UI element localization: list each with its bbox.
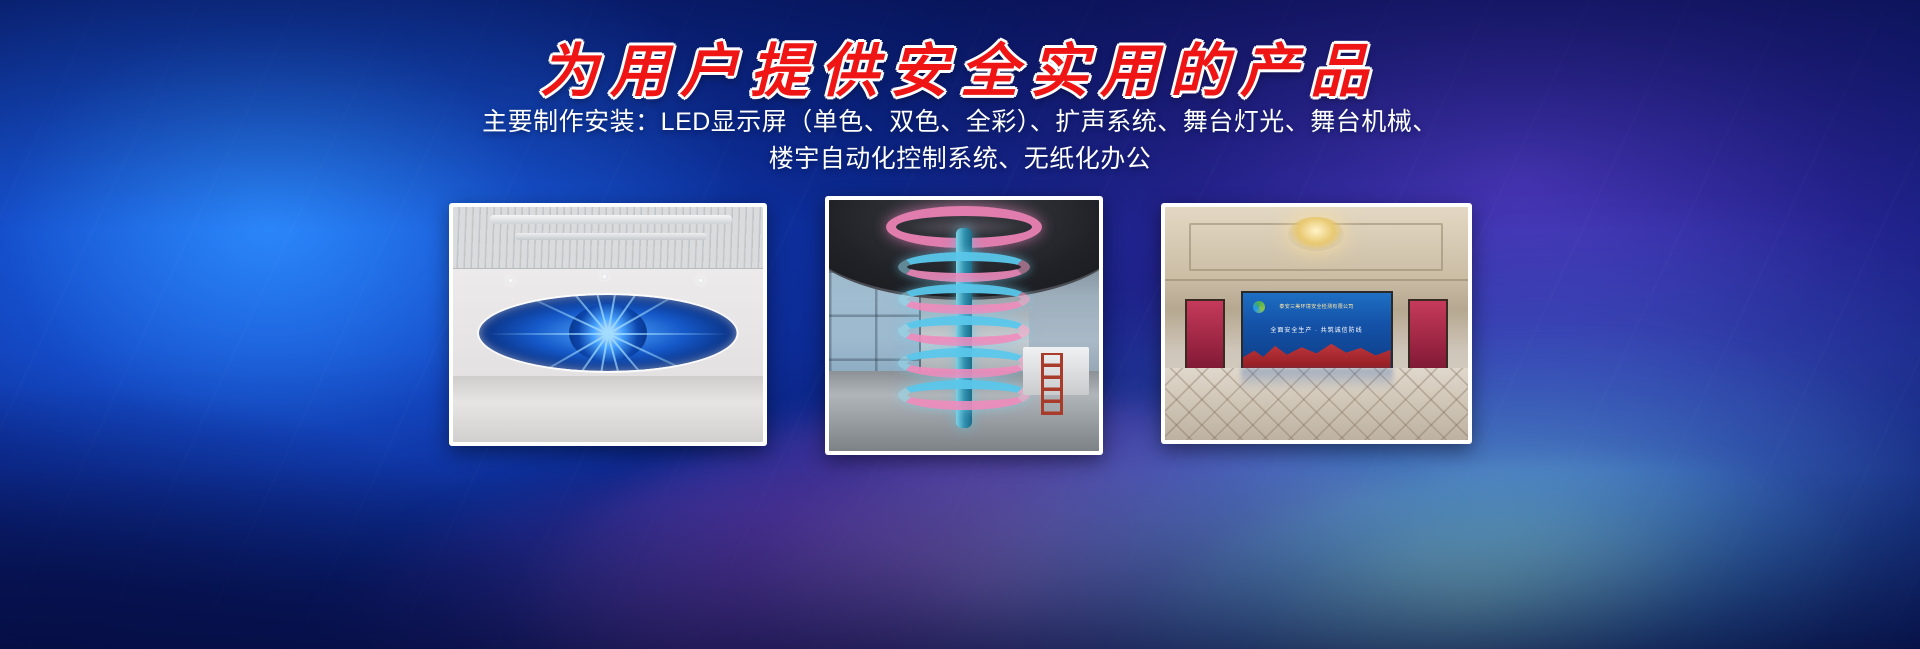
eye-screen-white-border xyxy=(477,293,739,373)
photo-banquet-scene: 泰安三美环境安全检测有限公司 全面安全生产 · 共筑诚信防线 xyxy=(1165,207,1468,440)
photo-frame-inner: 泰安三美环境安全检测有限公司 全面安全生产 · 共筑诚信防线 xyxy=(1165,207,1468,440)
stage-screen-skyline-graphic xyxy=(1243,337,1391,371)
photo-spiral-scene xyxy=(829,200,1099,451)
ceiling-lamp xyxy=(507,277,514,284)
spiral-led-band xyxy=(898,348,1030,378)
ceiling-light-strip-2 xyxy=(515,233,707,240)
photo-banquet-hall-led-stage[interactable]: 泰安三美环境安全检测有限公司 全面安全生产 · 共筑诚信防线 xyxy=(1161,203,1472,444)
photo-eye-shaped-led-screen-hall[interactable] xyxy=(449,203,767,446)
hall-floor xyxy=(453,376,763,442)
banner-subtitle-line-2: 楼宇自动化控制系统、无纸化办公 xyxy=(0,141,1920,178)
banner-headline: 为用户提供安全实用的产品 xyxy=(0,24,1920,108)
ceiling-lamp xyxy=(697,277,704,284)
photo-frame-inner xyxy=(829,200,1099,451)
ceiling-light-strip-1 xyxy=(490,215,732,224)
photo-spiral-led-atrium[interactable] xyxy=(825,196,1103,455)
stage-screen-headline: 泰安三美环境安全检测有限公司 xyxy=(1243,303,1391,310)
photo-eye-scene xyxy=(453,207,763,442)
spiral-led-band xyxy=(898,316,1030,346)
banner-subtitle: 主要制作安装：LED显示屏（单色、双色、全彩）、扩声系统、舞台灯光、舞台机械、 … xyxy=(0,104,1920,178)
chandelier xyxy=(1288,217,1344,251)
stage-led-screen: 泰安三美环境安全检测有限公司 全面安全生产 · 共筑诚信防线 xyxy=(1241,291,1393,373)
banner-subtitle-line-1: 主要制作安装：LED显示屏（单色、双色、全彩）、扩声系统、舞台灯光、舞台机械、 xyxy=(0,104,1920,141)
spiral-led-band xyxy=(898,380,1030,410)
banner-photo-gallery: 泰安三美环境安全检测有限公司 全面安全生产 · 共筑诚信防线 xyxy=(0,203,1920,455)
floor-reflection xyxy=(1241,368,1393,390)
ceiling-lamp xyxy=(601,273,608,280)
construction-ladder xyxy=(1041,353,1063,415)
photo-frame-inner xyxy=(453,207,763,442)
spiral-led-band xyxy=(898,252,1030,282)
spiral-led-band xyxy=(898,284,1030,314)
stage-screen-subline: 全面安全生产 · 共筑诚信防线 xyxy=(1243,325,1391,334)
promotional-banner: 为用户提供安全实用的产品 主要制作安装：LED显示屏（单色、双色、全彩）、扩声系… xyxy=(0,0,1920,649)
banner-content: 为用户提供安全实用的产品 主要制作安装：LED显示屏（单色、双色、全彩）、扩声系… xyxy=(0,0,1920,649)
